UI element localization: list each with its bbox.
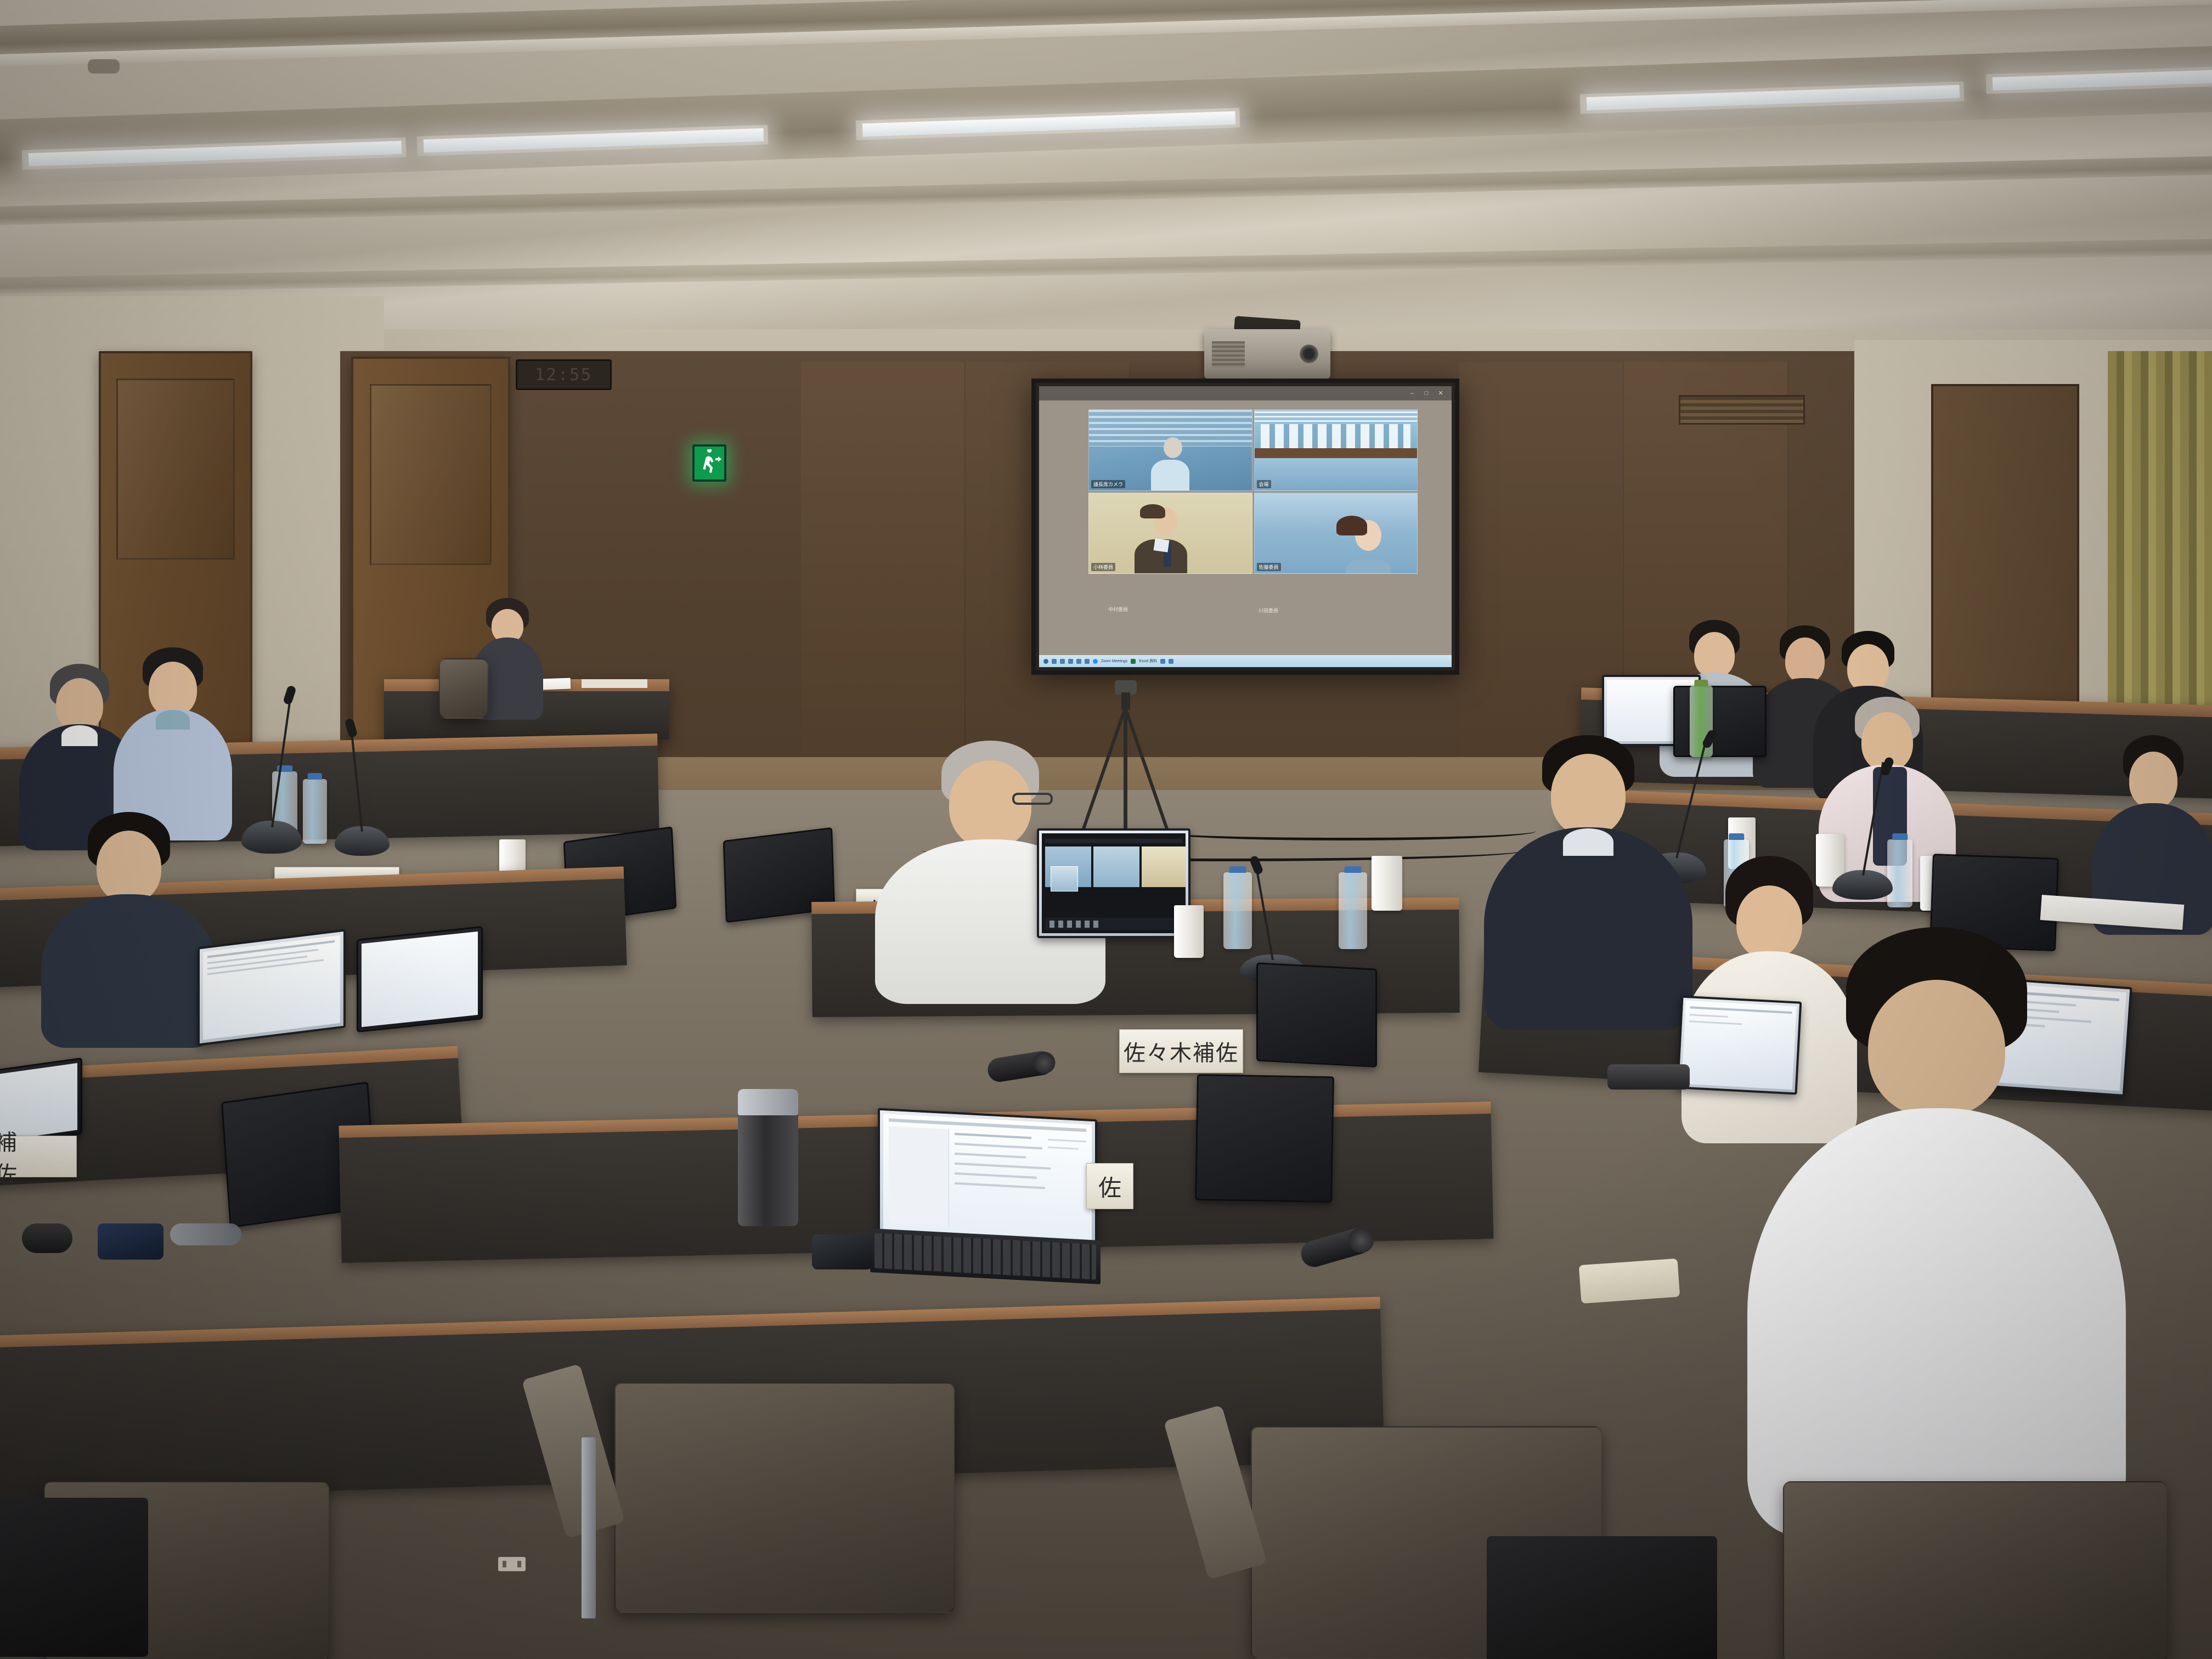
nameplate-hosa: 補 佐: [0, 1136, 77, 1177]
zoom-icon[interactable]: [1093, 659, 1098, 664]
video-tile-name: 会場: [1257, 480, 1271, 488]
microphone-capsule: [345, 718, 358, 738]
ceiling-projector: [1204, 329, 1330, 379]
video-tile-name: 議長席カメラ: [1091, 480, 1125, 488]
bottle-cap: [1892, 833, 1908, 840]
projection-screen: – □ ✕ 議長席カメラ 会場: [1031, 379, 1459, 675]
video-tile[interactable]: 佐藤委員: [1254, 493, 1418, 574]
taskbar-item-excel[interactable]: Excel 資料: [1139, 658, 1157, 664]
app-icon[interactable]: [1160, 659, 1165, 664]
minimize-icon[interactable]: –: [1409, 390, 1415, 397]
tablet[interactable]: [357, 926, 483, 1032]
microphone-capsule: [1880, 756, 1895, 777]
taskbar-item-zoom[interactable]: Zoom Meetings: [1101, 659, 1127, 663]
browser-icon[interactable]: [1068, 659, 1073, 664]
paper-cup[interactable]: [1174, 905, 1204, 958]
projector-lens-icon: [1300, 345, 1318, 363]
explorer-icon[interactable]: [1060, 659, 1065, 664]
air-vent-grille: [1679, 395, 1805, 425]
water-bottle[interactable]: [1339, 872, 1367, 949]
backpack[interactable]: [0, 1498, 148, 1657]
chair-leg: [582, 1437, 596, 1618]
bottle-cap: [308, 773, 322, 780]
maximize-icon[interactable]: □: [1423, 390, 1430, 397]
wall-clock: 12:55: [516, 359, 612, 390]
conference-room-photo: 12:55 – □ ✕ 議長席カメラ: [0, 0, 2212, 1659]
document-stack: [582, 679, 647, 688]
zoom-participant-label: 川田委員: [1259, 607, 1278, 614]
video-tile[interactable]: 会場: [1254, 409, 1418, 491]
chair[interactable]: [614, 1383, 955, 1613]
chair[interactable]: [1783, 1481, 2167, 1659]
briefcase[interactable]: [1487, 1536, 1717, 1659]
smoke-detector-icon: [88, 59, 120, 74]
video-tile-name: 小林委員: [1091, 563, 1115, 571]
power-outlet-icon[interactable]: [498, 1557, 526, 1571]
smartphone[interactable]: [812, 1234, 872, 1269]
nameplate-sa: 佐: [1086, 1163, 1133, 1209]
door-left-2-panel: [370, 384, 492, 565]
nameplate-sasaki-hosa: 佐々木補佐: [1119, 1029, 1243, 1073]
search-icon[interactable]: [1052, 659, 1057, 664]
zoom-participant-label: 中村委員: [1108, 606, 1128, 613]
video-tile[interactable]: 小林委員: [1088, 493, 1252, 574]
mouse[interactable]: [22, 1223, 72, 1253]
folder-icon[interactable]: [1085, 659, 1090, 664]
smartphone[interactable]: [98, 1223, 163, 1260]
zoom-gallery-grid: 議長席カメラ 会場 小林委員: [1088, 409, 1418, 574]
chair[interactable]: [439, 658, 488, 719]
mail-icon[interactable]: [1076, 659, 1081, 664]
person-right-6: [1481, 735, 1695, 1026]
door-left-1-panel: [116, 379, 235, 560]
floor-cable: [1152, 822, 1536, 840]
tablet[interactable]: [1195, 1074, 1334, 1203]
person-foreground-right: [1745, 927, 2129, 1531]
projection-screen-surface: – □ ✕ 議長席カメラ 会場: [1039, 386, 1452, 667]
zoom-window-titlebar: [1039, 386, 1452, 400]
bottle-cap: [1344, 866, 1361, 873]
eyeglasses: [1012, 793, 1053, 805]
close-icon[interactable]: ✕: [1437, 390, 1444, 397]
thermos-bottle[interactable]: [738, 1089, 798, 1226]
bottle-cap: [1694, 680, 1708, 686]
laptop-screen[interactable]: [1037, 828, 1190, 938]
bottle-cap: [1729, 833, 1744, 840]
laptop-screen[interactable]: [198, 929, 346, 1046]
projector-vent: [1212, 341, 1245, 368]
start-icon[interactable]: [1043, 659, 1048, 664]
video-tile[interactable]: 議長席カメラ: [1088, 409, 1252, 491]
app-icon[interactable]: [1169, 659, 1173, 664]
paper-cup[interactable]: [1372, 856, 1402, 911]
water-bottle[interactable]: [303, 779, 327, 844]
microphone-capsule: [1249, 855, 1264, 876]
towel-cloth: [1579, 1259, 1680, 1304]
wall-clock-time: 12:55: [535, 365, 592, 385]
windows-taskbar[interactable]: Zoom Meetings Excel 資料: [1039, 655, 1452, 667]
tablet[interactable]: [1256, 962, 1377, 1068]
gooseneck-microphone[interactable]: [241, 689, 302, 854]
gooseneck-microphone[interactable]: [335, 719, 390, 856]
excel-icon[interactable]: [1131, 659, 1136, 664]
person-left-2: [110, 647, 236, 839]
eyeglasses-case: [1607, 1064, 1690, 1090]
video-tile-name: 佐藤委員: [1257, 563, 1281, 571]
emergency-exit-icon: [692, 444, 726, 482]
person-left-3: [38, 812, 219, 1042]
eyeglasses: [170, 1223, 241, 1245]
laptop-screen[interactable]: [878, 1108, 1097, 1246]
